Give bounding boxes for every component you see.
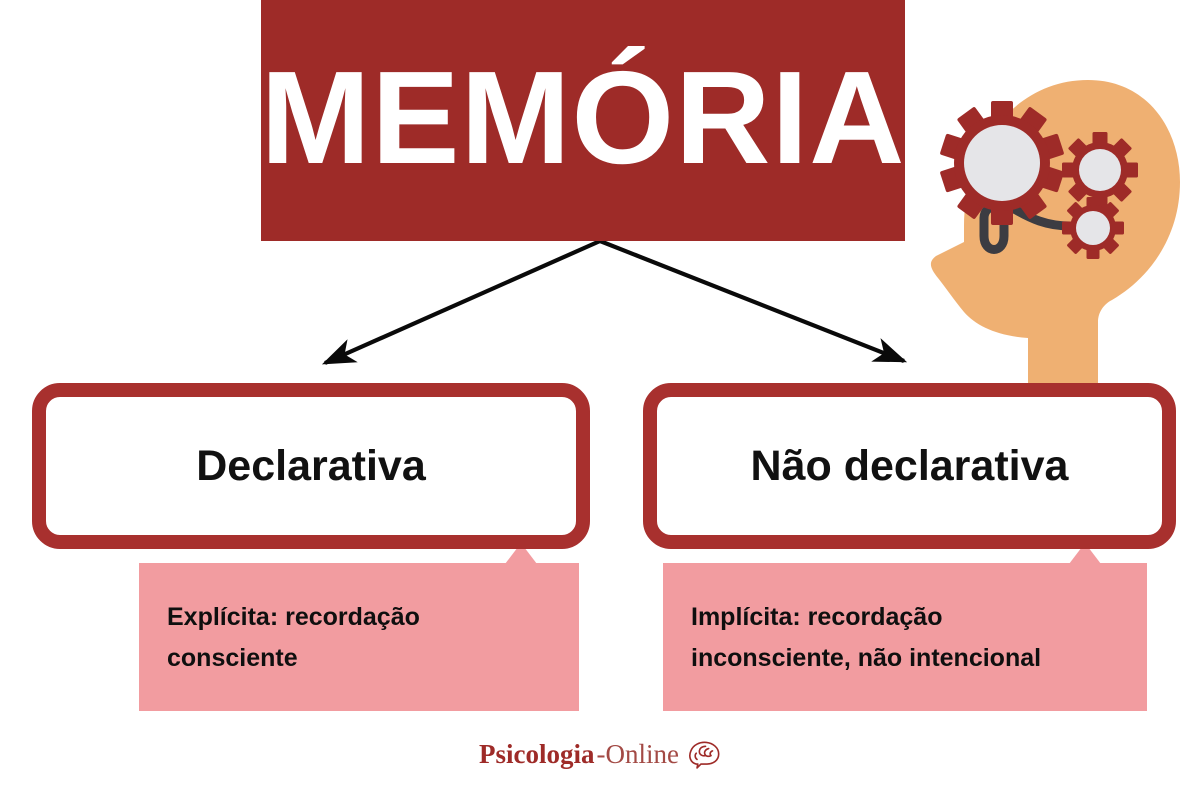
caption-line-2: inconsciente, não intencional — [691, 638, 1123, 679]
gear-large-icon — [940, 101, 1065, 225]
caption-declarativa: Explícita: recordação consciente — [139, 563, 579, 711]
header-banner: MEMÓRIA — [261, 0, 905, 241]
brand-name-secondary: -Online — [597, 739, 679, 770]
caption-line-1: Explícita: recordação — [167, 597, 555, 638]
caption-line-2: consciente — [167, 638, 555, 679]
arrow-to-declarativa — [325, 241, 600, 363]
footer-brand-logo[interactable]: Psicologia -Online — [0, 728, 1200, 780]
infographic-canvas: MEMÓRIA — [0, 0, 1200, 800]
category-label-declarativa: Declarativa — [196, 445, 426, 488]
page-title: MEMÓRIA — [261, 0, 905, 241]
caption-nao-declarativa: Implícita: recordação inconsciente, não … — [663, 563, 1147, 711]
caption-line-1: Implícita: recordação — [691, 597, 1123, 638]
brand-name-primary: Psicologia — [479, 739, 595, 770]
category-label-nao-declarativa: Não declarativa — [751, 445, 1069, 488]
category-box-declarativa[interactable]: Declarativa — [32, 383, 590, 549]
brain-icon — [687, 739, 721, 769]
arrow-to-nao-declarativa — [600, 241, 904, 361]
gear-small-upper-icon — [1062, 132, 1138, 208]
category-box-nao-declarativa[interactable]: Não declarativa — [643, 383, 1176, 549]
gear-small-lower-icon — [1062, 197, 1124, 259]
head-with-gears-illustration — [880, 40, 1200, 400]
